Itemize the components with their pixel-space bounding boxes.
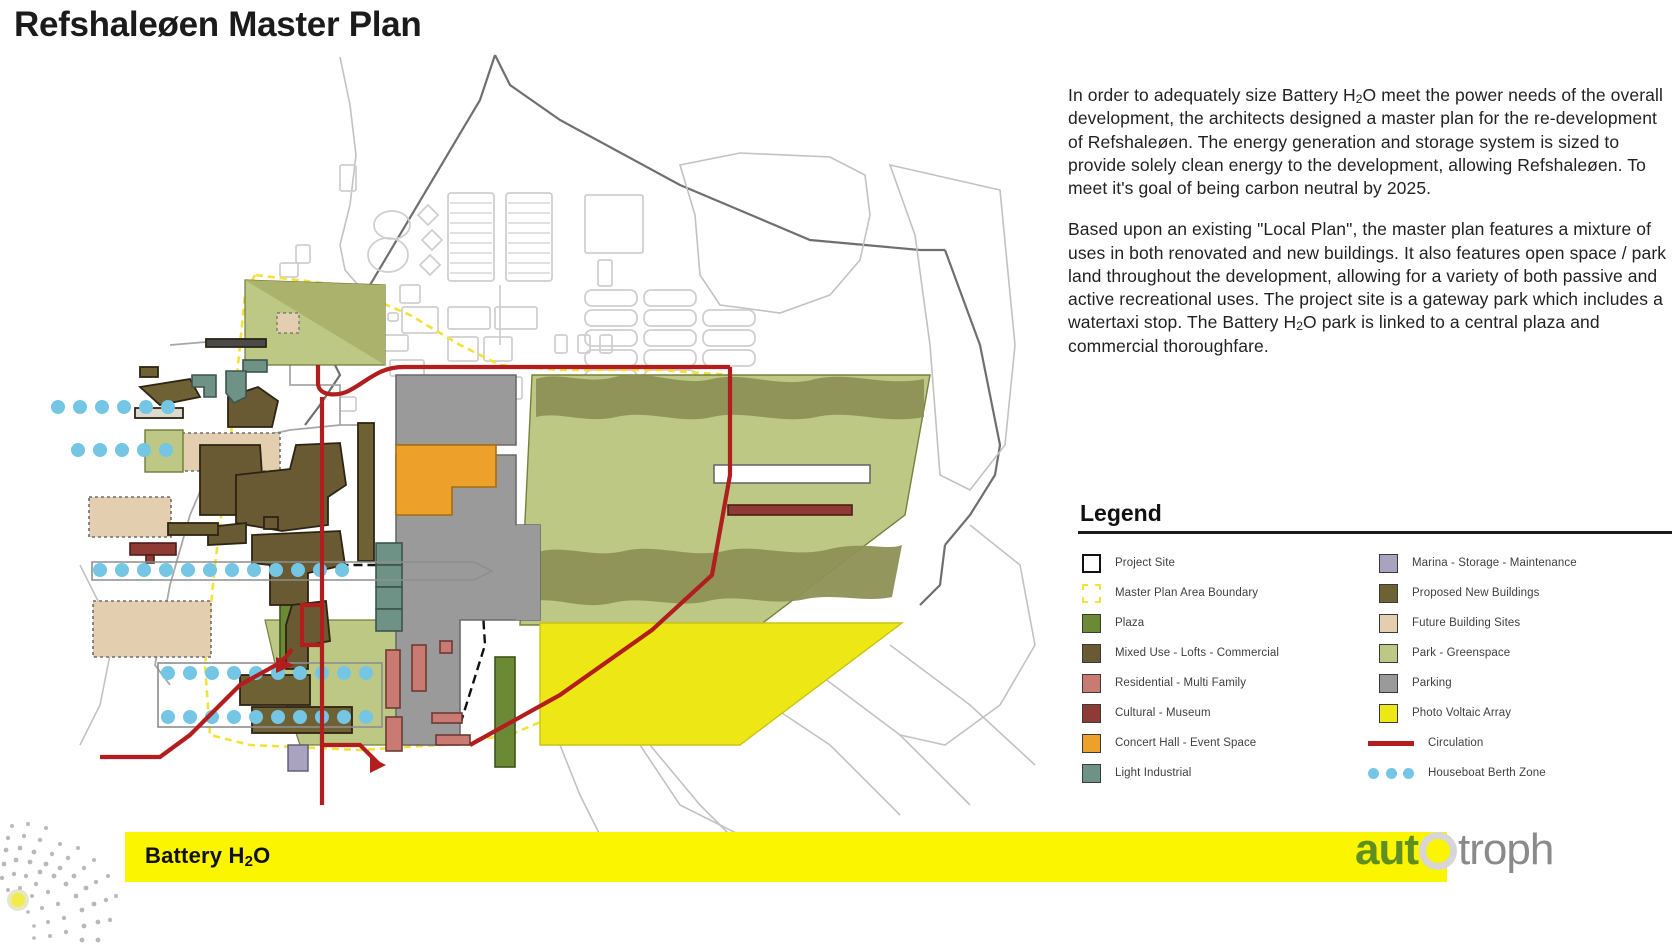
legend-column-left: Project Site Master Plan Area Boundary P…: [1078, 548, 1375, 788]
legend-divider: [1078, 531, 1672, 534]
legend-item-circulation[interactable]: Circulation: [1375, 728, 1672, 758]
legend-label: Project Site: [1101, 557, 1175, 569]
legend-label: Marina - Storage - Maintenance: [1398, 557, 1577, 569]
swatch-circulation-line-icon: [1368, 734, 1414, 753]
swatch-parking-icon: [1379, 674, 1398, 693]
swatch-photovoltaic-array-icon: [1379, 704, 1398, 723]
future-building-site-4: [277, 313, 299, 333]
legend-label: Concert Hall - Event Space: [1101, 737, 1256, 749]
legend-item-master-plan-boundary[interactable]: Master Plan Area Boundary: [1078, 578, 1375, 608]
legend-item-project-site[interactable]: Project Site: [1078, 548, 1375, 578]
legend-label: Photo Voltaic Array: [1398, 707, 1511, 719]
legend: Legend Project Site Master Plan Area Bou…: [1078, 500, 1672, 788]
page-title: Refshaleøen Master Plan: [14, 6, 421, 45]
swatch-cultural-museum-icon: [1082, 704, 1101, 723]
legend-item-plaza[interactable]: Plaza: [1078, 608, 1375, 638]
circulation-arrow-2: [370, 757, 386, 773]
plaza-strip: [495, 657, 515, 767]
future-building-site-2: [89, 497, 171, 537]
swatch-proposed-new-buildings-icon: [1379, 584, 1398, 603]
paragraph-1: In order to adequately size Battery H2O …: [1068, 84, 1668, 200]
autotroph-logo[interactable]: auttroph: [1355, 828, 1553, 872]
future-building-site-3: [93, 601, 211, 657]
legend-label: Master Plan Area Boundary: [1101, 587, 1258, 599]
logo-o-circle-icon: [1419, 832, 1457, 870]
tree-mass-south: [534, 545, 902, 605]
legend-item-proposed-new-buildings[interactable]: Proposed New Buildings: [1375, 578, 1672, 608]
swatch-future-building-sites-icon: [1379, 614, 1398, 633]
map-graphic: [40, 45, 1060, 835]
legend-label: Cultural - Museum: [1101, 707, 1211, 719]
battery-spiral-graphic: [0, 780, 120, 945]
paragraph-2: Based upon an existing "Local Plan", the…: [1068, 218, 1668, 358]
legend-label: Park - Greenspace: [1398, 647, 1510, 659]
logo-text-aut: aut: [1355, 825, 1418, 874]
parking-area-east: [516, 525, 540, 620]
swatch-project-site-icon: [1082, 554, 1101, 573]
legend-label: Residential - Multi Family: [1101, 677, 1246, 689]
footer-project-label: Battery H2O: [145, 843, 270, 869]
park-white-building: [714, 465, 870, 483]
legend-title: Legend: [1080, 500, 1672, 527]
logo-text-troph: troph: [1458, 825, 1553, 874]
footer-yellow-bar: [125, 832, 1447, 882]
legend-label: Light Industrial: [1101, 767, 1191, 779]
swatch-residential-icon: [1082, 674, 1101, 693]
legend-item-houseboat-berth-zone[interactable]: Houseboat Berth Zone: [1375, 758, 1672, 788]
swatch-master-plan-boundary-icon: [1082, 584, 1101, 603]
legend-item-parking[interactable]: Parking: [1375, 668, 1672, 698]
swatch-plaza-icon: [1082, 614, 1101, 633]
description-text-block: In order to adequately size Battery H2O …: [1068, 84, 1668, 376]
legend-item-park-greenspace[interactable]: Park - Greenspace: [1375, 638, 1672, 668]
legend-item-photovoltaic-array[interactable]: Photo Voltaic Array: [1375, 698, 1672, 728]
swatch-light-industrial-icon: [1082, 764, 1101, 783]
legend-item-concert-hall[interactable]: Concert Hall - Event Space: [1078, 728, 1375, 758]
legend-item-cultural-museum[interactable]: Cultural - Museum: [1078, 698, 1375, 728]
swatch-park-greenspace-icon: [1379, 644, 1398, 663]
photovoltaic-array: [540, 623, 902, 745]
legend-item-residential[interactable]: Residential - Multi Family: [1078, 668, 1375, 698]
swatch-concert-hall-icon: [1082, 734, 1101, 753]
legend-item-light-industrial[interactable]: Light Industrial: [1078, 758, 1375, 788]
swatch-houseboat-berth-dots-icon: [1368, 764, 1414, 783]
legend-label: Proposed New Buildings: [1398, 587, 1540, 599]
legend-label: Plaza: [1101, 617, 1144, 629]
legend-column-right: Marina - Storage - Maintenance Proposed …: [1375, 548, 1672, 788]
legend-label: Parking: [1398, 677, 1452, 689]
legend-item-marina[interactable]: Marina - Storage - Maintenance: [1375, 548, 1672, 578]
swatch-mixed-use-icon: [1082, 644, 1101, 663]
footer-project-label-text: Battery H2O: [145, 843, 270, 868]
legend-item-future-building-sites[interactable]: Future Building Sites: [1375, 608, 1672, 638]
swatch-marina-icon: [1379, 554, 1398, 573]
legend-label: Future Building Sites: [1398, 617, 1520, 629]
legend-label: Mixed Use - Lofts - Commercial: [1101, 647, 1279, 659]
master-plan-map[interactable]: [40, 45, 1060, 835]
marina-storage-maintenance: [288, 745, 308, 771]
legend-label: Houseboat Berth Zone: [1414, 767, 1546, 779]
parking-area-north: [396, 375, 516, 445]
legend-item-mixed-use[interactable]: Mixed Use - Lofts - Commercial: [1078, 638, 1375, 668]
legend-label: Circulation: [1414, 737, 1483, 749]
slide-canvas: Refshaleøen Master Plan: [0, 0, 1680, 945]
